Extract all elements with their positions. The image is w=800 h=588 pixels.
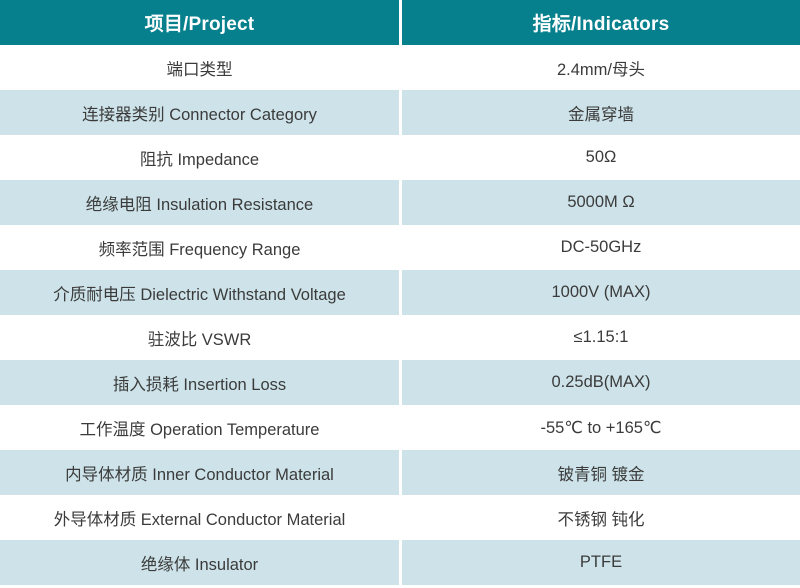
cell-indicator: 2.4mm/母头 — [402, 45, 800, 90]
cell-indicator: 1000V (MAX) — [402, 270, 800, 315]
cell-project: 绝缘电阻 Insulation Resistance — [0, 180, 399, 225]
table-row: 绝缘电阻 Insulation Resistance5000M Ω — [0, 180, 800, 225]
cell-project: 内导体材质 Inner Conductor Material — [0, 450, 399, 495]
cell-indicator: 5000M Ω — [402, 180, 800, 225]
table-row: 内导体材质 Inner Conductor Material铍青铜 镀金 — [0, 450, 800, 495]
cell-project: 工作温度 Operation Temperature — [0, 405, 399, 450]
table-row: 连接器类别 Connector Category金属穿墙 — [0, 90, 800, 135]
cell-project: 外导体材质 External Conductor Material — [0, 495, 399, 540]
cell-indicator: 金属穿墙 — [402, 90, 800, 135]
cell-project: 阻抗 Impedance — [0, 135, 399, 180]
cell-indicator: PTFE — [402, 540, 800, 585]
cell-project: 端口类型 — [0, 45, 399, 90]
cell-project: 频率范围 Frequency Range — [0, 225, 399, 270]
table-header-row: 项目/Project 指标/Indicators — [0, 0, 800, 45]
table-row: 阻抗 Impedance50Ω — [0, 135, 800, 180]
specification-table: 项目/Project 指标/Indicators 端口类型2.4mm/母头连接器… — [0, 0, 800, 585]
cell-indicator: 50Ω — [402, 135, 800, 180]
cell-indicator: ≤1.15:1 — [402, 315, 800, 360]
table-body: 端口类型2.4mm/母头连接器类别 Connector Category金属穿墙… — [0, 45, 800, 585]
table-row: 介质耐电压 Dielectric Withstand Voltage1000V … — [0, 270, 800, 315]
cell-indicator: 0.25dB(MAX) — [402, 360, 800, 405]
table-row: 驻波比 VSWR≤1.15:1 — [0, 315, 800, 360]
column-header-project: 项目/Project — [0, 0, 399, 45]
cell-project: 插入损耗 Insertion Loss — [0, 360, 399, 405]
table-row: 频率范围 Frequency RangeDC-50GHz — [0, 225, 800, 270]
column-header-indicators: 指标/Indicators — [402, 0, 800, 45]
cell-indicator: 不锈钢 钝化 — [402, 495, 800, 540]
cell-project: 驻波比 VSWR — [0, 315, 399, 360]
cell-indicator: 铍青铜 镀金 — [402, 450, 800, 495]
cell-project: 介质耐电压 Dielectric Withstand Voltage — [0, 270, 399, 315]
table-row: 工作温度 Operation Temperature-55℃ to +165℃ — [0, 405, 800, 450]
cell-project: 绝缘体 Insulator — [0, 540, 399, 585]
table-row: 插入损耗 Insertion Loss0.25dB(MAX) — [0, 360, 800, 405]
table-row: 外导体材质 External Conductor Material不锈钢 钝化 — [0, 495, 800, 540]
cell-indicator: DC-50GHz — [402, 225, 800, 270]
table-row: 绝缘体 InsulatorPTFE — [0, 540, 800, 585]
cell-project: 连接器类别 Connector Category — [0, 90, 399, 135]
table-row: 端口类型2.4mm/母头 — [0, 45, 800, 90]
cell-indicator: -55℃ to +165℃ — [402, 405, 800, 450]
